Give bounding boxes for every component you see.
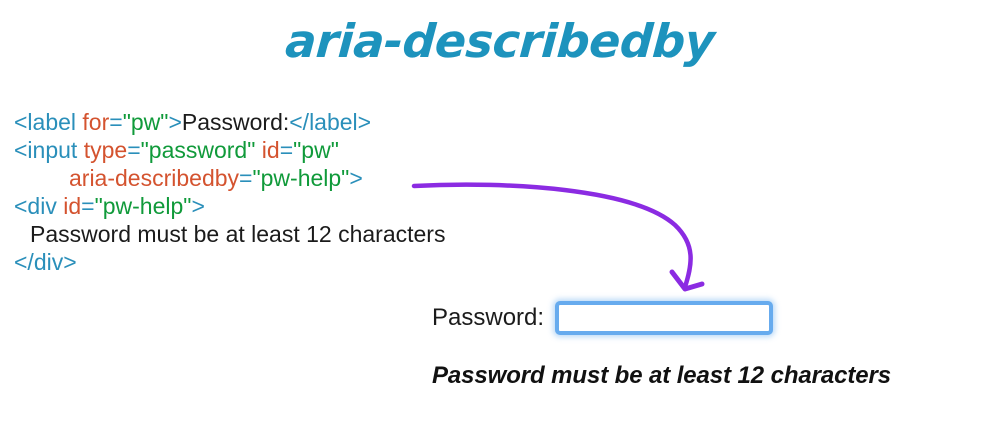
- code-token-str: "pw-help": [95, 193, 192, 219]
- password-field-row: Password:: [432, 296, 891, 340]
- code-token-eq: =: [280, 137, 293, 163]
- code-token-tag: </div>: [14, 249, 77, 275]
- describedby-to-input-arrow: [400, 165, 720, 310]
- code-token-eq: =: [109, 109, 122, 135]
- code-token-eq: =: [81, 193, 94, 219]
- password-help-text: Password must be at least 12 characters: [432, 362, 891, 390]
- code-line: <input type="password" id="pw": [14, 136, 445, 164]
- code-token-attr: type: [84, 137, 127, 163]
- code-token-tag: <label: [14, 109, 82, 135]
- code-token-str: "pw": [293, 137, 339, 163]
- code-token-tag: <input: [14, 137, 84, 163]
- code-line: <label for="pw">Password:</label>: [14, 108, 445, 136]
- rendered-form-demo: Password: Password must be at least 12 c…: [432, 296, 891, 390]
- code-token-tag: >: [168, 109, 181, 135]
- code-token-tag: </label>: [289, 109, 371, 135]
- code-token-eq: =: [239, 165, 252, 191]
- code-token-str: "pw-help": [252, 165, 349, 191]
- code-token-attr: id: [262, 137, 280, 163]
- code-token-attr: aria-describedby: [69, 165, 239, 191]
- page-title: aria-describedby: [0, 14, 1000, 68]
- code-token-attr: id: [63, 193, 81, 219]
- arrow-head-icon: [672, 272, 702, 289]
- password-label: Password:: [432, 304, 544, 332]
- arrow-shaft: [414, 185, 691, 287]
- code-token-txt: Password must be at least 12 characters: [30, 221, 445, 247]
- code-token-eq: =: [127, 137, 140, 163]
- code-line: Password must be at least 12 characters: [14, 220, 445, 248]
- code-token-tag: >: [349, 165, 362, 191]
- code-line: </div>: [14, 248, 445, 276]
- code-snippet: <label for="pw">Password:</label><input …: [14, 108, 445, 276]
- code-token-tag: >: [191, 193, 204, 219]
- code-line: <div id="pw-help">: [14, 192, 445, 220]
- code-token-tag: <div: [14, 193, 63, 219]
- code-token-str: "pw": [123, 109, 169, 135]
- password-input[interactable]: [555, 301, 773, 335]
- code-token-txt: Password:: [182, 109, 289, 135]
- code-token-str: "password": [141, 137, 256, 163]
- code-line: aria-describedby="pw-help">: [14, 164, 445, 192]
- code-token-attr: for: [82, 109, 109, 135]
